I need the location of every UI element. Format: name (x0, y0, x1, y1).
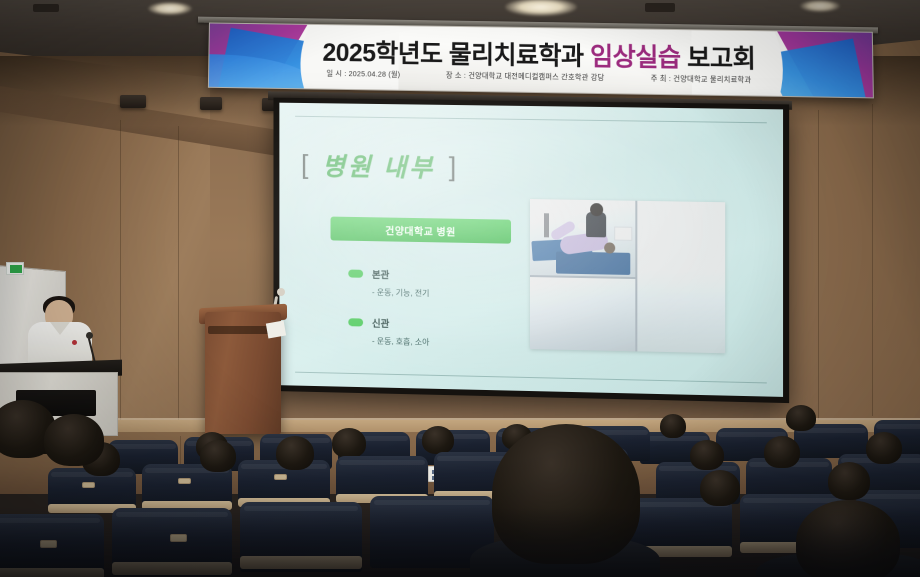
banner-date: 일 시 : 2025.04.28 (월) (326, 69, 400, 80)
wall-seam (818, 110, 819, 420)
seat-number-plate (274, 474, 287, 480)
projection-screen: [ 병원 내부 ] 건양대학교 병원 본관 - 운동, 기능, 전기 신관 (273, 98, 789, 403)
ceiling-light (148, 2, 192, 15)
audience-head (44, 414, 104, 466)
audience-head (764, 436, 800, 468)
auditorium-photo: 2025학년도 물리치료학과 임상실습 보고회 일 시 : 2025.04.28… (0, 0, 920, 577)
bullet-dot-icon (348, 270, 363, 278)
seat-frame (240, 556, 362, 569)
wall-seam (872, 104, 873, 416)
audience-head-foreground (492, 424, 640, 564)
banner-host: 주 최 : 건양대학교 물리치료학과 (651, 74, 752, 86)
wall-seam (120, 120, 121, 430)
audience-head (786, 405, 816, 431)
audience-head (332, 428, 366, 458)
equipment-pole (544, 213, 549, 237)
presenter-badge-pin (72, 340, 77, 345)
slide-photo-bottom-left (530, 277, 635, 351)
slide-rule-bottom (295, 372, 767, 384)
slide-title: [ 병원 내부 ] (301, 147, 456, 185)
ceiling-vent (645, 3, 675, 12)
bullet-label: 신관 (372, 316, 389, 330)
banner-title-suffix: 보고회 (680, 44, 755, 73)
presentation-slide: [ 병원 내부 ] 건양대학교 병원 본관 - 운동, 기능, 전기 신관 (279, 103, 783, 397)
bracket-left: [ (301, 149, 308, 180)
patient-head (604, 242, 615, 253)
seat-number-plate (40, 540, 57, 548)
bullet-label: 본관 (372, 267, 389, 281)
audience-head-foreground (796, 500, 900, 577)
ceiling-speaker (200, 97, 222, 110)
event-banner: 2025학년도 물리치료학과 임상실습 보고회 일 시 : 2025.04.28… (208, 22, 874, 98)
audience-head (700, 470, 740, 506)
audience-head (828, 462, 870, 500)
ceiling-light (505, 0, 577, 16)
slide-photo-collage (530, 199, 725, 353)
audience-head (866, 432, 902, 464)
banner-title-highlight: 임상실습 (590, 43, 681, 72)
bracket-right: ] (449, 151, 456, 182)
audience-head (422, 426, 454, 454)
equipment-cabinet (614, 226, 632, 240)
exit-sign-icon (6, 262, 24, 275)
therapist-head (590, 203, 603, 216)
audience-head (690, 440, 724, 470)
slide-rule-top (295, 116, 767, 124)
ceiling-vent (33, 4, 59, 12)
slide-photo-right (637, 201, 725, 353)
banner-title-prefix: 2025학년도 물리치료학과 (322, 39, 590, 71)
ceiling-speaker (120, 95, 146, 108)
seat-frame (112, 562, 232, 575)
seat-number-plate (178, 478, 191, 484)
audience-head (660, 414, 686, 438)
seat-number-plate (82, 482, 95, 488)
therapy-mat (556, 251, 630, 274)
audience-head (200, 440, 236, 472)
microphone-head-icon (86, 332, 93, 339)
seat-number-plate (170, 534, 187, 542)
slide-photo-top-left (530, 199, 635, 277)
bullet-dot-icon (348, 318, 363, 326)
podium-paper (266, 321, 286, 339)
slide-title-text: 병원 내부 (322, 147, 435, 185)
microphone-head-icon (277, 288, 285, 296)
banner-place: 장 소 : 건양대학교 대전메디컬캠퍼스 간호학관 강당 (446, 71, 604, 83)
ceiling-light (800, 0, 840, 12)
seat-frame (0, 568, 104, 577)
slide-pill-label: 건양대학교 병원 (331, 217, 511, 244)
audience-head (276, 436, 314, 470)
wall-seam (178, 126, 179, 426)
